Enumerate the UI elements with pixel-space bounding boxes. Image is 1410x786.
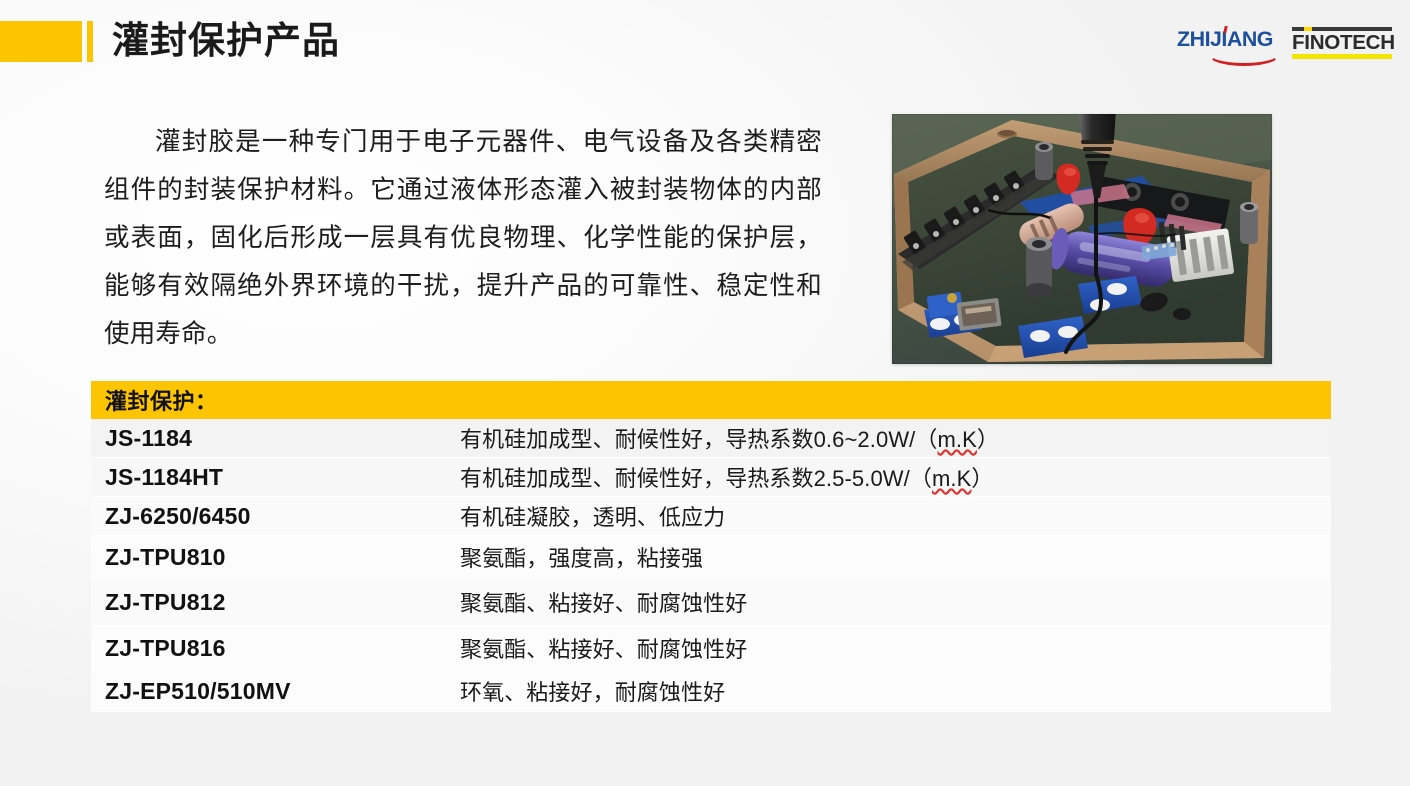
- finotech-logo-topdot: [1304, 27, 1312, 31]
- product-description-cell: 有机硅凝胶，透明、低应力: [460, 500, 1331, 532]
- product-description-cell: 聚氨酯、粘接好、耐腐蚀性好: [460, 586, 1331, 618]
- potting-process-photo: [892, 114, 1272, 364]
- intro-paragraph: 灌封胶是一种专门用于电子元器件、电气设备及各类精密组件的封装保护材料。它通过液体…: [104, 118, 822, 358]
- table-row: JS-1184HT有机硅加成型、耐候性好，导热系数2.5-5.0W/（m.K）: [91, 458, 1331, 497]
- spellcheck-marked-text: m.K: [938, 427, 977, 452]
- product-code-cell: ZJ-TPU816: [105, 635, 460, 662]
- spellcheck-marked-text: m.K: [932, 466, 971, 491]
- zhijiang-logo: ZHIJIANG: [1178, 26, 1278, 60]
- product-code-cell: ZJ-6250/6450: [105, 503, 460, 530]
- table-row: ZJ-TPU812聚氨酯、粘接好、耐腐蚀性好: [91, 579, 1331, 626]
- product-description-cell: 有机硅加成型、耐候性好，导热系数2.5-5.0W/（m.K）: [460, 461, 1331, 493]
- title-accent-bar: [0, 21, 82, 62]
- product-description-cell: 聚氨酯，强度高，粘接强: [460, 541, 1331, 573]
- product-code-cell: ZJ-TPU810: [105, 544, 460, 571]
- product-code-cell: JS-1184: [105, 425, 460, 452]
- page-title: 灌封保护产品: [112, 16, 340, 66]
- table-row: ZJ-TPU810聚氨酯，强度高，粘接强: [91, 536, 1331, 579]
- finotech-logo-botbar: [1292, 54, 1392, 59]
- product-code-cell: ZJ-TPU812: [105, 589, 460, 616]
- product-description-cell: 聚氨酯、粘接好、耐腐蚀性好: [460, 632, 1331, 664]
- product-table-header: 灌封保护：: [91, 381, 1331, 419]
- table-row: ZJ-TPU816聚氨酯、粘接好、耐腐蚀性好: [91, 626, 1331, 671]
- product-table: 灌封保护： JS-1184有机硅加成型、耐候性好，导热系数0.6~2.0W/（m…: [91, 381, 1331, 712]
- table-row: ZJ-6250/6450有机硅凝胶，透明、低应力: [91, 497, 1331, 536]
- table-row: ZJ-EP510/510MV环氧、粘接好，耐腐蚀性好: [91, 671, 1331, 712]
- logo-group: ZHIJIANG FINOTECH: [1178, 25, 1394, 61]
- potting-process-photo-graphic: [892, 114, 1272, 364]
- finotech-logo: FINOTECH: [1292, 25, 1394, 61]
- slide-canvas: 灌封保护产品 ZHIJIANG FINOTECH 灌封胶是一种专门用于电子元器件…: [0, 0, 1410, 786]
- table-row: JS-1184有机硅加成型、耐候性好，导热系数0.6~2.0W/（m.K）: [91, 419, 1331, 458]
- product-code-cell: JS-1184HT: [105, 464, 460, 491]
- product-description-cell: 有机硅加成型、耐候性好，导热系数0.6~2.0W/（m.K）: [460, 422, 1331, 454]
- product-description-cell: 环氧、粘接好，耐腐蚀性好: [460, 675, 1331, 707]
- product-table-header-label: 灌封保护：: [105, 384, 218, 416]
- finotech-logo-text: FINOTECH: [1292, 32, 1395, 55]
- product-table-body: JS-1184有机硅加成型、耐候性好，导热系数0.6~2.0W/（m.K）JS-…: [91, 419, 1331, 712]
- title-accent-tick: [87, 21, 93, 62]
- product-code-cell: ZJ-EP510/510MV: [105, 678, 460, 705]
- zhijiang-logo-swoosh: [1208, 43, 1280, 66]
